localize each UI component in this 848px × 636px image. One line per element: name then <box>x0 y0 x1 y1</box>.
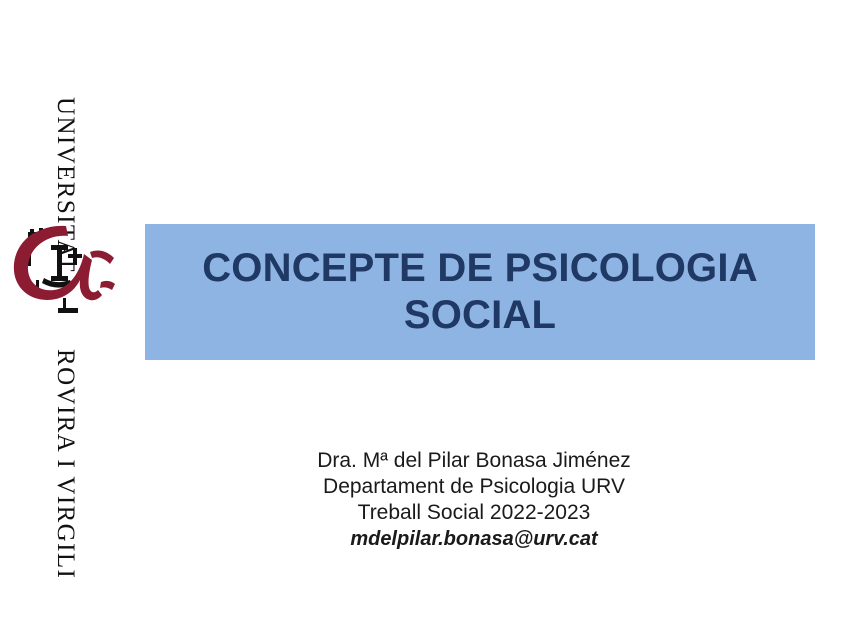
urv-logo-universitat-text: UNIVERSITAT <box>51 97 79 227</box>
department-name: Departament de Psicologia URV <box>174 474 774 500</box>
author-name: Dra. Mª del Pilar Bonasa Jiménez <box>174 448 774 474</box>
urv-logo: UNIVERSITAT <box>0 40 130 560</box>
slide-title: CONCEPTE DE PSICOLOGIA SOCIAL <box>164 245 796 339</box>
urv-logo-rovira-i-virgili-text: ROVIRA I VIRGILI <box>51 349 79 479</box>
author-email: mdelpilar.bonasa@urv.cat <box>174 526 774 553</box>
presentation-slide: UNIVERSITAT <box>0 0 848 636</box>
subtitle-block: Dra. Mª del Pilar Bonasa Jiménez Departa… <box>174 448 774 553</box>
urv-a-brushstroke-logo-icon <box>6 220 122 320</box>
title-banner: CONCEPTE DE PSICOLOGIA SOCIAL <box>145 224 815 360</box>
course-year: Treball Social 2022-2023 <box>174 500 774 526</box>
